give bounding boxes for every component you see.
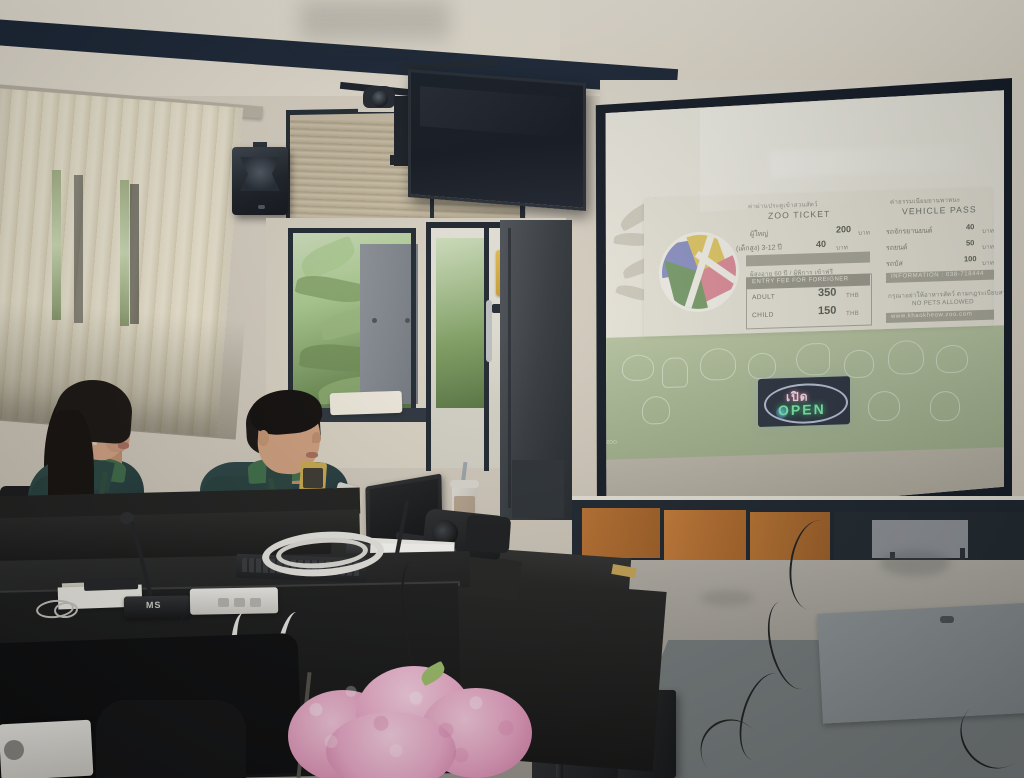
person-right-ear xyxy=(258,430,269,446)
animal-outline xyxy=(700,348,736,381)
blind-gap xyxy=(130,184,139,324)
open-sign-english: OPEN xyxy=(778,401,826,418)
animal-outline xyxy=(868,391,900,422)
column-patch xyxy=(512,460,564,518)
power-socket[interactable] xyxy=(234,598,245,607)
floor-stain xyxy=(880,550,950,576)
wood-cabinet-door[interactable] xyxy=(664,510,746,560)
slide-watermark: ZOO xyxy=(606,439,617,445)
information-bar-text: INFORMATION : 038-718444 xyxy=(891,271,984,280)
ticket-row-unit-0: บาท xyxy=(858,228,870,238)
foreigner-row-label-0: ADULT xyxy=(752,293,775,301)
foreigner-row-unit-0: THB xyxy=(846,292,859,299)
vehicle-row-unit-2: บาท xyxy=(982,258,994,268)
hydrangea-floret-texture xyxy=(286,664,536,778)
person-right-badge-inner xyxy=(303,468,323,488)
foreigner-row-price-1: 150 xyxy=(818,305,836,318)
phone-on-desk[interactable] xyxy=(84,577,138,591)
ticket-row-price-1: 40 xyxy=(816,239,826,249)
ticket-row-label-1: (เด็กสูง) 3-12 ปี xyxy=(736,242,782,254)
person-right-nose xyxy=(312,432,321,443)
animal-outline xyxy=(930,391,960,422)
door-glass-foliage xyxy=(436,238,484,408)
vehicle-row-label-1: รถยนต์ xyxy=(886,242,907,254)
vehicle-row-price-1: 50 xyxy=(966,238,974,247)
blind-gap xyxy=(52,170,61,320)
vehicle-row-unit-0: บาท xyxy=(982,226,994,236)
projector-lens-icon xyxy=(4,740,24,760)
animal-outline xyxy=(662,357,688,388)
blind-gap xyxy=(74,175,83,323)
speaker-led-icon xyxy=(258,205,265,209)
animal-outline xyxy=(642,396,670,425)
wood-cabinet-door[interactable] xyxy=(582,508,660,558)
cloth-on-sill xyxy=(330,391,403,415)
vehicle-row-label-0: รถจักรยานยนต์ xyxy=(886,226,932,238)
microphone-brand-label: MS xyxy=(146,600,162,610)
vehicle-row-unit-1: บาท xyxy=(982,242,994,252)
ticket-row-price-0: 200 xyxy=(836,224,851,234)
panel-knob-icon xyxy=(940,616,954,623)
ticket-row-unit-1: บาท xyxy=(836,242,848,252)
ticket-row-label-0: ผู้ใหญ่ xyxy=(750,229,768,241)
animal-outline xyxy=(888,340,924,375)
vehicle-row-label-2: รถบัส xyxy=(886,258,903,270)
foreigner-row-price-0: 350 xyxy=(818,287,836,300)
animal-outline xyxy=(622,354,654,381)
animal-outline xyxy=(748,352,776,379)
zoo-ticket-heading: ZOO TICKET xyxy=(768,209,830,221)
foreigner-row-label-1: CHILD xyxy=(752,312,774,320)
camera-lens-icon xyxy=(372,91,388,107)
vehicle-row-price-2: 100 xyxy=(964,254,977,263)
person-right-mouth xyxy=(306,452,318,458)
column-seam xyxy=(508,228,511,508)
camera-bag-side xyxy=(465,515,511,554)
foreigner-row-unit-1: THB xyxy=(846,310,859,317)
website-bar-text: www.khaokheow.zoo.com xyxy=(891,311,972,320)
power-socket[interactable] xyxy=(250,598,261,607)
floor-stain xyxy=(700,590,754,606)
foreground-chair-back[interactable] xyxy=(96,700,246,778)
cup-lid xyxy=(450,480,479,488)
door-handle-icon[interactable] xyxy=(486,300,492,362)
ceiling-shadow xyxy=(300,0,450,40)
door-frame xyxy=(426,226,431,471)
window-frame xyxy=(288,228,416,416)
power-socket[interactable] xyxy=(218,598,229,607)
animal-outline xyxy=(936,344,968,373)
blind-gap xyxy=(120,180,129,326)
room-photo: ค่าผ่านประตูเข้าสวนสัตว์ ZOO TICKET ผู้ใ… xyxy=(0,0,1024,778)
animal-outline xyxy=(796,343,830,376)
vehicle-row-price-0: 40 xyxy=(966,222,974,231)
animal-outline xyxy=(844,349,874,378)
